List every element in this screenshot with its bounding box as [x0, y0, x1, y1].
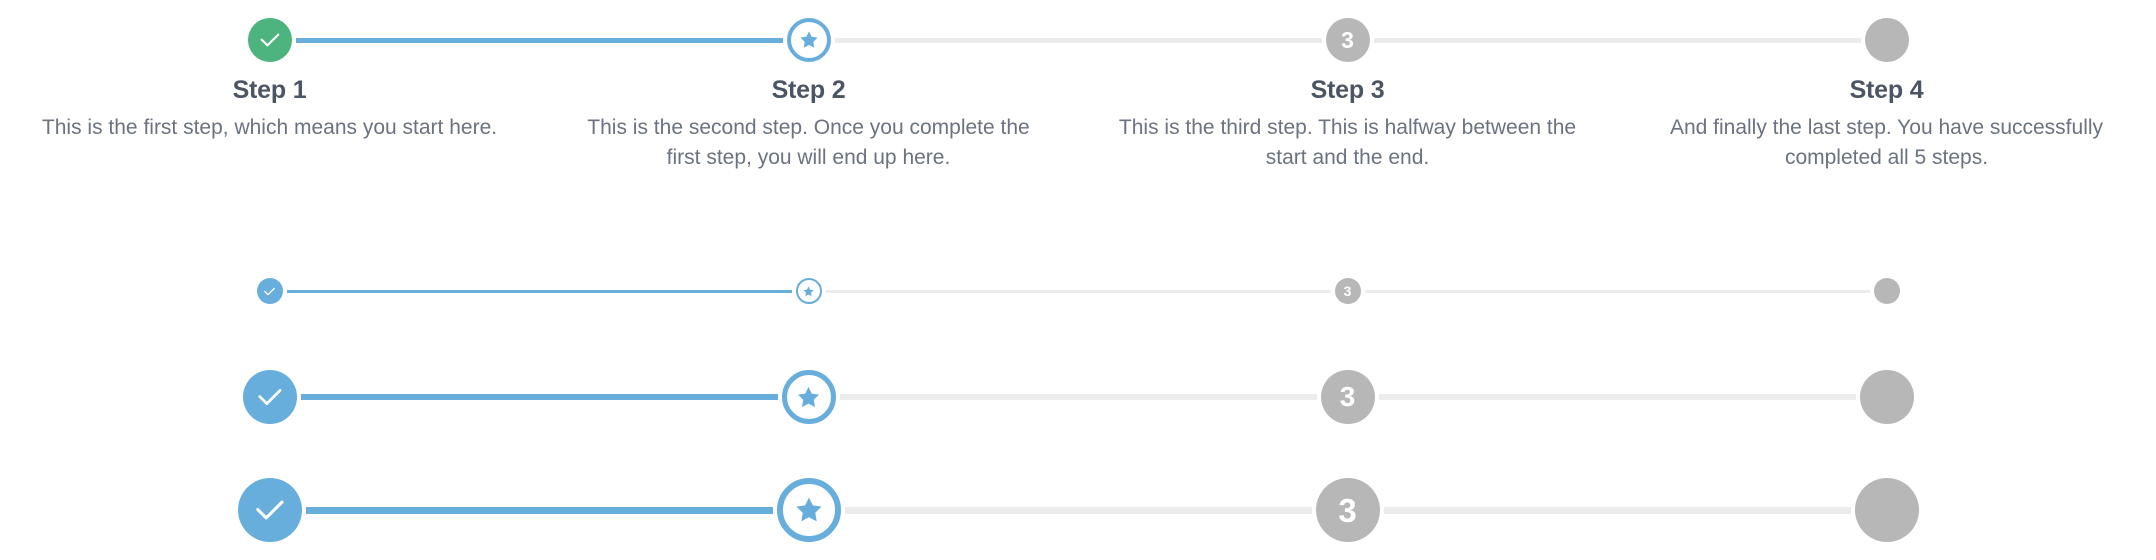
small-step-1-bubble[interactable]: [257, 278, 283, 304]
step-2-bubble-wrap[interactable]: [787, 18, 831, 62]
medium-step-3[interactable]: 3: [1078, 370, 1617, 424]
small-step-4-bubble-wrap[interactable]: [1874, 278, 1900, 304]
step-1-labels: Step 1 This is the first step, which mea…: [0, 76, 539, 143]
small-step-3[interactable]: 3: [1078, 278, 1617, 304]
xlarge-step-3-bubble[interactable]: 3: [1316, 478, 1380, 542]
small-step-4[interactable]: [1617, 278, 2156, 304]
step-number-label: 3: [1340, 383, 1356, 411]
step-3-labels: Step 3 This is the third step. This is h…: [1078, 76, 1617, 174]
step-1-bubble[interactable]: [248, 18, 292, 62]
check-icon: [254, 381, 286, 413]
xlarge-step-1-bubble-wrap[interactable]: [238, 478, 302, 542]
medium-step-4[interactable]: [1617, 370, 2156, 424]
xlarge-step-2-bubble[interactable]: [777, 478, 841, 542]
xlarge-step-2[interactable]: [539, 478, 1078, 542]
medium-step-2-bubble-wrap[interactable]: [782, 370, 836, 424]
xlarge-step-2-bubble-wrap[interactable]: [777, 478, 841, 542]
check-icon: [257, 27, 283, 53]
step-4-bubble-wrap[interactable]: [1865, 18, 1909, 62]
step-4[interactable]: Step 4 And finally the last step. You ha…: [1617, 18, 2156, 174]
step-number-label: 3: [1344, 284, 1352, 298]
medium-step-1-bubble-wrap[interactable]: [243, 370, 297, 424]
step-3-bubble[interactable]: 3: [1326, 18, 1370, 62]
stepper-row-medium: 3: [0, 370, 2156, 424]
star-icon: [802, 285, 815, 298]
small-step-3-bubble[interactable]: 3: [1335, 278, 1361, 304]
medium-step-2[interactable]: [539, 370, 1078, 424]
xlarge-step-3-bubble-wrap[interactable]: 3: [1316, 478, 1380, 542]
step-3-title: Step 3: [1102, 76, 1593, 105]
small-step-3-bubble-wrap[interactable]: 3: [1335, 278, 1361, 304]
step-2-description: This is the second step. Once you comple…: [569, 113, 1049, 174]
medium-step-4-bubble[interactable]: [1860, 370, 1914, 424]
small-step-4-bubble[interactable]: [1874, 278, 1900, 304]
step-number-label: 3: [1338, 494, 1356, 527]
step-4-title: Step 4: [1641, 76, 2132, 105]
step-2-labels: Step 2 This is the second step. Once you…: [539, 76, 1078, 174]
small-step-2[interactable]: [539, 278, 1078, 304]
star-icon: [795, 384, 822, 411]
medium-step-3-bubble-wrap[interactable]: 3: [1321, 370, 1375, 424]
step-2[interactable]: Step 2 This is the second step. Once you…: [539, 18, 1078, 174]
step-4-bubble[interactable]: [1865, 18, 1909, 62]
xlarge-step-1[interactable]: [0, 478, 539, 542]
stepper-showcase-page: Step 1 This is the first step, which mea…: [0, 0, 2156, 560]
step-1-bubble-wrap[interactable]: [248, 18, 292, 62]
step-3-bubble-wrap[interactable]: 3: [1326, 18, 1370, 62]
star-icon: [798, 29, 820, 51]
xlarge-step-1-bubble[interactable]: [238, 478, 302, 542]
small-step-2-bubble-wrap[interactable]: [796, 278, 822, 304]
xlarge-step-4-bubble-wrap[interactable]: [1855, 478, 1919, 542]
small-step-1[interactable]: [0, 278, 539, 304]
step-1-title: Step 1: [24, 76, 515, 105]
xlarge-step-3[interactable]: 3: [1078, 478, 1617, 542]
step-2-title: Step 2: [563, 76, 1054, 105]
medium-step-1-bubble[interactable]: [243, 370, 297, 424]
step-4-description: And finally the last step. You have succ…: [1647, 113, 2127, 174]
xlarge-step-4-bubble[interactable]: [1855, 478, 1919, 542]
medium-step-3-bubble[interactable]: 3: [1321, 370, 1375, 424]
step-1[interactable]: Step 1 This is the first step, which mea…: [0, 18, 539, 143]
small-step-1-bubble-wrap[interactable]: [257, 278, 283, 304]
medium-step-1[interactable]: [0, 370, 539, 424]
stepper-row-small: 3: [0, 278, 2156, 304]
stepper-row-labelled: Step 1 This is the first step, which mea…: [0, 18, 2156, 174]
medium-step-4-bubble-wrap[interactable]: [1860, 370, 1914, 424]
step-1-description: This is the first step, which means you …: [30, 113, 510, 143]
check-icon: [251, 491, 289, 529]
step-2-bubble[interactable]: [787, 18, 831, 62]
step-number-label: 3: [1341, 29, 1354, 52]
small-step-2-bubble[interactable]: [796, 278, 822, 304]
step-4-labels: Step 4 And finally the last step. You ha…: [1617, 76, 2156, 174]
step-3-description: This is the third step. This is halfway …: [1108, 113, 1588, 174]
star-icon: [793, 494, 825, 526]
medium-step-2-bubble[interactable]: [782, 370, 836, 424]
check-icon: [262, 284, 277, 299]
step-3[interactable]: 3 Step 3 This is the third step. This is…: [1078, 18, 1617, 174]
stepper-row-xlarge: 3: [0, 478, 2156, 542]
xlarge-step-4[interactable]: [1617, 478, 2156, 542]
